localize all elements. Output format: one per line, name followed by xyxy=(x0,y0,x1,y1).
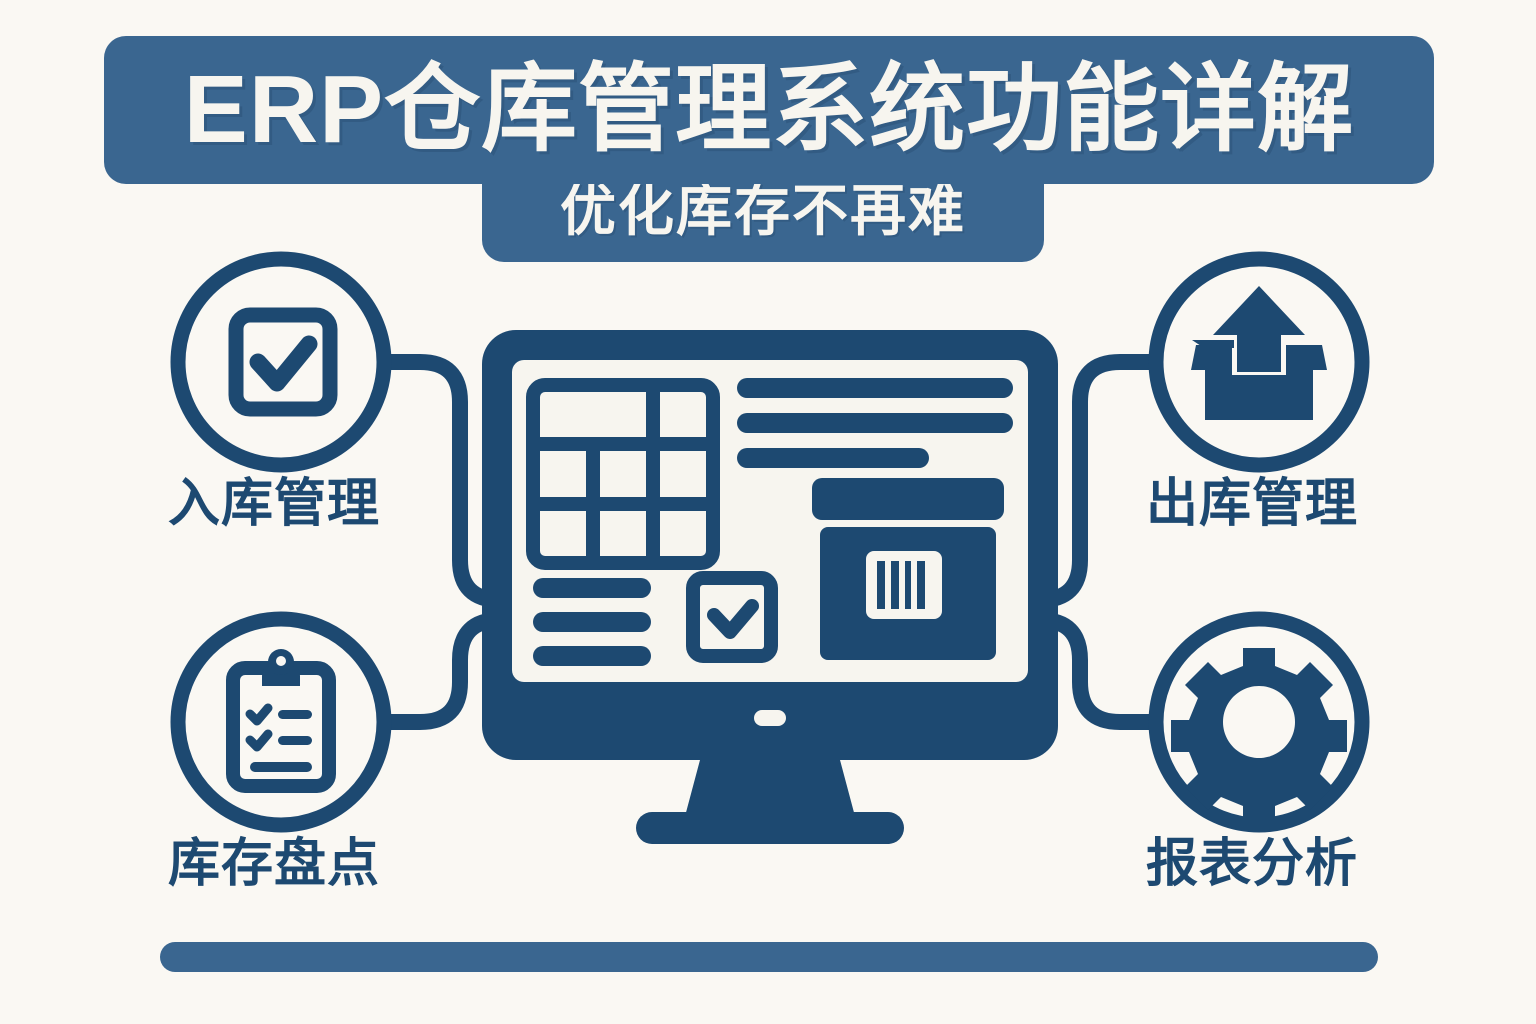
node-label-outbound: 出库管理 xyxy=(1146,478,1358,530)
monitor-stand-neck xyxy=(684,760,856,820)
node-label-stocktake: 库存盘点 xyxy=(168,838,380,890)
node-label-inbound: 入库管理 xyxy=(168,478,380,530)
screen-text-line-2 xyxy=(737,413,1013,433)
infographic-canvas: ERP仓库管理系统功能详解 优化库存不再难 xyxy=(0,0,1536,1024)
node-outbound[interactable] xyxy=(1156,259,1362,465)
page-title: ERP仓库管理系统功能详解 xyxy=(184,62,1354,158)
clipboard-checklist-icon xyxy=(233,649,329,786)
desktop-monitor xyxy=(482,330,1058,844)
screen-list-line-3 xyxy=(533,646,651,666)
footer-accent-bar xyxy=(160,942,1378,972)
node-ring-inbound xyxy=(178,259,384,465)
gear-icon xyxy=(1171,648,1347,824)
monitor-stand-base xyxy=(636,812,904,844)
screen-text-line-3 xyxy=(737,448,929,468)
node-inbound[interactable] xyxy=(178,259,384,465)
node-stocktake[interactable] xyxy=(178,619,384,825)
title-banner: ERP仓库管理系统功能详解 xyxy=(104,36,1434,184)
page-subtitle: 优化库存不再难 xyxy=(560,183,966,239)
node-label-report: 报表分析 xyxy=(1146,838,1358,890)
checkbox-check-icon xyxy=(236,315,330,409)
open-box-up-arrow-icon xyxy=(1191,286,1327,420)
screen-text-line-1 xyxy=(737,378,1013,398)
power-indicator xyxy=(754,710,786,726)
screen-list-line-2 xyxy=(533,612,651,632)
node-report[interactable] xyxy=(1156,619,1362,825)
screen-list-line-1 xyxy=(533,578,651,598)
screen-package-lid xyxy=(812,478,1004,520)
